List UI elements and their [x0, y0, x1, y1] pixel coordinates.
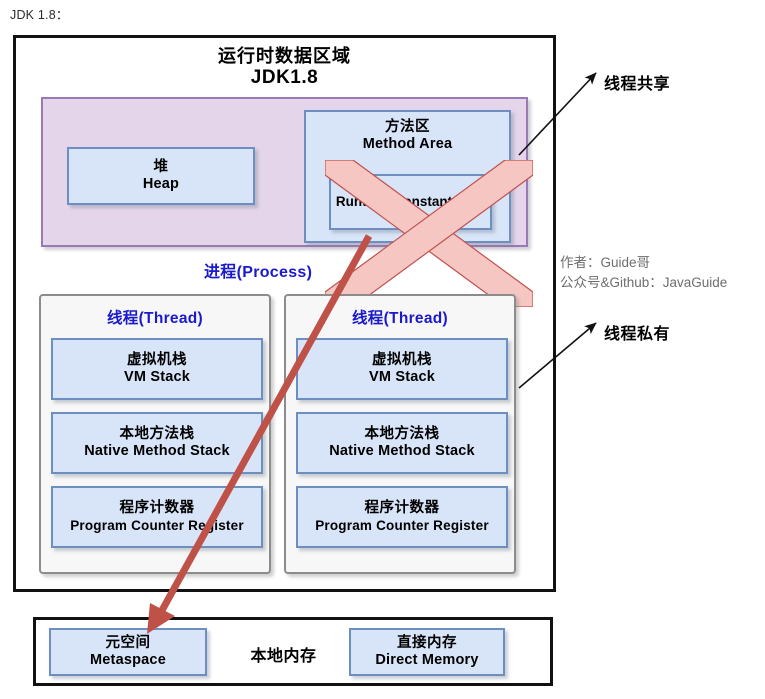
- thread-2-native-method-stack-box: 本地方法栈 Native Method Stack: [296, 412, 508, 474]
- native-memory-label: 本地内存: [226, 642, 341, 666]
- runtime-data-area-frame: 运行时数据区域 JDK1.8 堆 Heap 方法区 Method Area Ru…: [13, 35, 556, 592]
- thread-2-vm-stack-box: 虚拟机栈 VM Stack: [296, 338, 508, 400]
- thread-2-program-counter-box: 程序计数器 Program Counter Register: [296, 486, 508, 548]
- author-credit: 作者：Guide哥 公众号&Github：JavaGuide: [560, 253, 727, 294]
- heap-label-en: Heap: [143, 176, 179, 193]
- thread-1-vm-stack-box: 虚拟机栈 VM Stack: [51, 338, 263, 400]
- thread-1-native-method-stack-box: 本地方法栈 Native Method Stack: [51, 412, 263, 474]
- thread-shared-region: 堆 Heap 方法区 Method Area Runtime Constant …: [41, 97, 528, 247]
- thread-2-title: 线程(Thread): [286, 306, 514, 328]
- metaspace-label-en: Metaspace: [90, 652, 166, 669]
- thread-2-program-counter-en: Program Counter Register: [315, 518, 489, 534]
- thread-1-vm-stack-en: VM Stack: [124, 369, 190, 386]
- metaspace-label-cn: 元空间: [106, 635, 151, 652]
- heap-label-cn: 堆: [154, 159, 169, 176]
- heap-box: 堆 Heap: [67, 147, 255, 205]
- thread-1-native-method-stack-en: Native Method Stack: [84, 443, 230, 460]
- thread-shared-annotation: 线程共享: [604, 70, 670, 94]
- thread-2-native-method-stack-en: Native Method Stack: [329, 443, 475, 460]
- thread-box-2: 线程(Thread) 虚拟机栈 VM Stack 本地方法栈 Native Me…: [284, 294, 516, 574]
- author-github-line: 公众号&Github：JavaGuide: [560, 273, 727, 293]
- thread-box-1: 线程(Thread) 虚拟机栈 VM Stack 本地方法栈 Native Me…: [39, 294, 271, 574]
- runtime-title-en: JDK1.8: [16, 67, 553, 89]
- direct-memory-label-cn: 直接内存: [397, 635, 457, 652]
- runtime-constant-pool-box: Runtime Constant Pool: [329, 174, 492, 230]
- thread-1-program-counter-en: Program Counter Register: [70, 518, 244, 534]
- process-label: 进程(Process): [204, 258, 312, 282]
- method-area-label-cn: 方法区: [385, 119, 430, 136]
- method-area-label-en: Method Area: [363, 136, 452, 153]
- thread-private-annotation: 线程私有: [604, 320, 670, 344]
- thread-2-vm-stack-en: VM Stack: [369, 369, 435, 386]
- author-name-line: 作者：Guide哥: [560, 253, 727, 273]
- thread-2-vm-stack-cn: 虚拟机栈: [372, 352, 432, 369]
- thread-1-title: 线程(Thread): [41, 306, 269, 328]
- thread-1-native-method-stack-cn: 本地方法栈: [120, 426, 195, 443]
- runtime-title-cn: 运行时数据区域: [16, 46, 553, 67]
- native-memory-frame: 元空间 Metaspace 本地内存 直接内存 Direct Memory: [33, 617, 553, 686]
- method-area-box: 方法区 Method Area Runtime Constant Pool: [304, 110, 511, 243]
- direct-memory-box: 直接内存 Direct Memory: [349, 628, 505, 676]
- runtime-data-area-title: 运行时数据区域 JDK1.8: [16, 46, 553, 90]
- page-caption: JDK 1.8：: [10, 4, 69, 23]
- metaspace-box: 元空间 Metaspace: [49, 628, 207, 676]
- thread-1-program-counter-box: 程序计数器 Program Counter Register: [51, 486, 263, 548]
- thread-1-vm-stack-cn: 虚拟机栈: [127, 352, 187, 369]
- direct-memory-label-en: Direct Memory: [375, 652, 478, 669]
- thread-1-program-counter-cn: 程序计数器: [120, 500, 195, 517]
- thread-2-native-method-stack-cn: 本地方法栈: [365, 426, 440, 443]
- thread-2-program-counter-cn: 程序计数器: [365, 500, 440, 517]
- runtime-constant-pool-label: Runtime Constant Pool: [336, 194, 485, 210]
